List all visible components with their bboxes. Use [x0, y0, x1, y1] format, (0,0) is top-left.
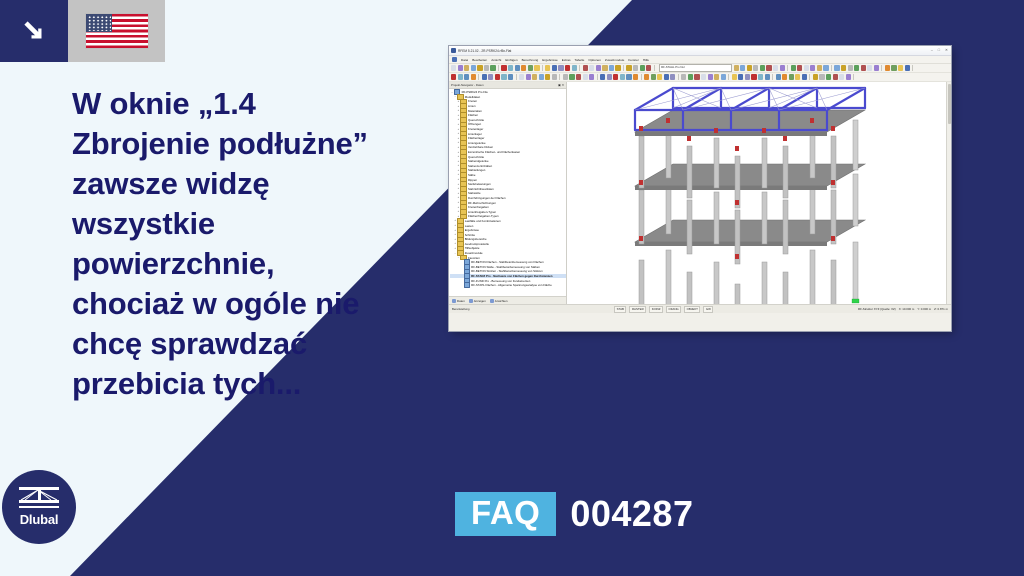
toolbar-separator — [654, 65, 655, 71]
toolbar-separator — [772, 74, 773, 80]
toolbar-icon[interactable] — [613, 74, 618, 79]
toolbar-icon[interactable] — [721, 74, 726, 79]
tree-item-label: Liniengelenke — [468, 141, 486, 145]
menu-item[interactable]: Zusatzmodule — [605, 58, 624, 62]
toolbar-icon[interactable] — [508, 65, 513, 70]
tree-item-label: Bildungsbereiche — [465, 237, 487, 241]
toolbar-separator — [559, 74, 560, 80]
toolbar-icon[interactable] — [602, 65, 607, 70]
tree-item-label: Stabexzentrizitäten — [468, 164, 492, 168]
toolbar-icon[interactable] — [539, 74, 544, 79]
tree-item-label: RF-BETON Stützen - Stahlbetonbemessung v… — [471, 269, 543, 273]
tree-item-label: Schnitte — [465, 233, 475, 237]
tree-item-label: RF-PSRK24 Pro File — [462, 90, 488, 94]
toolbar-separator — [579, 65, 580, 71]
toolbar-icon[interactable] — [776, 74, 781, 79]
status-message: Bereitstellung — [452, 307, 470, 311]
toolbar-secondary[interactable] — [449, 73, 951, 82]
toolbar-icon[interactable] — [694, 74, 699, 79]
tree-item-label: Exzentrische Flächen- und Flächenlasten — [468, 150, 520, 154]
maximize-icon[interactable]: □ — [938, 49, 940, 53]
toolbar-separator — [478, 74, 479, 80]
window-title: RFEM 5.21.02 - 2R-PSRK24.rf5x-Flat — [458, 49, 931, 53]
language-flag-badge — [68, 0, 165, 62]
rfem-application-window: RFEM 5.21.02 - 2R-PSRK24.rf5x-Flat – □ ✕… — [448, 45, 952, 332]
tree-item-label: Lasten — [465, 224, 474, 228]
toolbar-icon[interactable] — [521, 65, 526, 70]
faq-tag: FAQ — [455, 492, 556, 536]
toolbar-icon[interactable] — [490, 65, 495, 70]
toolbar-icon[interactable] — [589, 74, 594, 79]
toolbar-icon[interactable] — [795, 74, 800, 79]
status-cell[interactable]: OBJEKT — [684, 306, 700, 313]
tree-item-label: Knotenlager — [468, 127, 483, 131]
toolbar-icon[interactable] — [874, 65, 879, 70]
tree-item-label: Öffnungen — [468, 122, 481, 126]
toolbar-icon[interactable] — [701, 74, 706, 79]
tree-item-label: RF-STAHL Flächen - Allgemeine Spannungsa… — [471, 283, 552, 287]
toolbar-icon[interactable] — [545, 65, 550, 70]
toolbar-icon[interactable] — [563, 74, 568, 79]
status-cell[interactable]: RASTER — [629, 306, 646, 313]
toolbar-icon[interactable] — [813, 74, 818, 79]
toolbar-icon[interactable] — [583, 74, 588, 79]
toolbar-icon[interactable] — [898, 65, 903, 70]
toolbar-icon[interactable] — [471, 65, 476, 70]
flag-stars — [87, 15, 111, 31]
toolbar-icon[interactable] — [823, 65, 828, 70]
toolbar-separator — [831, 65, 832, 71]
toolbar-icon[interactable] — [626, 74, 631, 79]
toolbar-icon[interactable] — [802, 74, 807, 79]
toolbar-icon[interactable] — [651, 74, 656, 79]
tree-item-label: Stabteilungen — [468, 168, 485, 172]
toolbar-icon[interactable] — [583, 65, 588, 70]
app-icon — [451, 48, 456, 53]
close-icon[interactable]: ✕ — [945, 49, 948, 53]
navigator-tabs[interactable]: Daten Anzeigen Ansichten — [449, 296, 566, 304]
us-flag-icon — [86, 14, 148, 48]
toolbar-separator — [881, 65, 882, 71]
toolbar-icon[interactable] — [797, 65, 802, 70]
menu-app-icon — [452, 57, 457, 62]
status-toggle-cells[interactable]: STAB RASTER KOINZ OFANG OBJEKT GW — [614, 306, 713, 313]
toolbar-icon[interactable] — [670, 74, 675, 79]
toolbar-icon[interactable] — [789, 74, 794, 79]
status-coord-z: Z: 0.871 m — [934, 307, 948, 311]
status-cell[interactable]: KOINZ — [649, 306, 663, 313]
toolbar-icon[interactable] — [458, 74, 463, 79]
toolbar-icon[interactable] — [867, 65, 872, 70]
status-bar: Bereitstellung STAB RASTER KOINZ OFANG O… — [449, 304, 951, 313]
toolbar-icon[interactable] — [833, 74, 838, 79]
tree-item-label: Querschnitte — [468, 155, 484, 159]
toolbar-icon[interactable] — [891, 65, 896, 70]
toolbar-icon[interactable] — [826, 74, 831, 79]
menu-item[interactable]: Ergebnisse — [542, 58, 557, 62]
toolbar-icon[interactable] — [714, 74, 719, 79]
toolbar-icon[interactable] — [834, 65, 839, 70]
tree-item-label: Rippen — [468, 178, 477, 182]
toolbar-icon[interactable] — [817, 65, 822, 70]
toolbar-icon[interactable] — [819, 74, 824, 79]
model-viewport[interactable] — [567, 82, 951, 304]
toolbar-icon[interactable] — [846, 74, 851, 79]
tree-item-label: Linien — [468, 104, 476, 108]
toolbar-icon[interactable] — [528, 65, 533, 70]
toolbar-separator — [728, 74, 729, 80]
toolbar-icon[interactable] — [745, 74, 750, 79]
navigator-title: Projekt-Navigator - Daten — [451, 83, 484, 87]
menu-bar[interactable]: Datei Bearbeiten Ansicht Einfügen Berech… — [449, 56, 951, 64]
toolbar-icon[interactable] — [633, 74, 638, 79]
toolbar-icon[interactable] — [765, 74, 770, 79]
menu-item[interactable]: Fenster — [628, 58, 639, 62]
toolbar-icon[interactable] — [747, 65, 752, 70]
toolbar-icon[interactable] — [646, 65, 651, 70]
toolbar-icon[interactable] — [458, 65, 463, 70]
toolbar-separator — [809, 74, 810, 80]
page-title: W oknie „1.4 Zbrojenie podłużne” zawsze … — [72, 84, 422, 404]
window-body: Projekt-Navigator - Daten ▣ ✕ −RF-PSRK24… — [449, 82, 951, 304]
toolbar-icon[interactable] — [804, 65, 809, 70]
module-icon — [464, 282, 470, 288]
menu-item[interactable]: Ansicht — [491, 58, 501, 62]
scrollbar-thumb[interactable] — [948, 84, 951, 124]
loadcase-combo[interactable]: RF-STAHL Pro Nul — [659, 64, 732, 72]
menu-item[interactable]: Datei — [461, 58, 468, 62]
tree-item-label: Flächen — [468, 113, 478, 117]
toolbar-separator — [787, 65, 788, 71]
tree-item-label: Flächenfreigaben-Typen — [468, 214, 499, 218]
toolbar-separator — [498, 65, 499, 71]
toolbar-icon[interactable] — [609, 65, 614, 70]
status-coordinates: RF-Struktur XYZ (Quelle: XZ) X: 10.000 m… — [858, 307, 948, 311]
toolbar-icon[interactable] — [708, 74, 713, 79]
toolbar-icon[interactable] — [572, 65, 577, 70]
toolbar-icon[interactable] — [482, 74, 487, 79]
navigator-header-buttons[interactable]: ▣ ✕ — [558, 83, 564, 87]
tree-item-label: Lastfälle und Kombinationen — [465, 219, 501, 223]
tree-item-label: Linienfreigaben-Typen — [468, 210, 496, 214]
toolbar-icon[interactable] — [644, 74, 649, 79]
tree-item[interactable]: RF-STAHL Flächen - Allgemeine Spannungsa… — [450, 283, 566, 288]
toolbar-icon[interactable] — [640, 65, 645, 70]
tree-item-label: Hilfsobjekte — [465, 246, 480, 250]
toolbar-icon[interactable] — [751, 74, 756, 79]
tree-item-label: Steifebelastungen — [468, 182, 491, 186]
toolbar-icon[interactable] — [552, 65, 557, 70]
toolbar-icon[interactable] — [552, 74, 557, 79]
toolbar-icon[interactable] — [488, 74, 493, 79]
project-navigator: Projekt-Navigator - Daten ▣ ✕ −RF-PSRK24… — [449, 82, 567, 304]
toolbar-icon[interactable] — [633, 65, 638, 70]
logo-text: Dlubal — [20, 512, 59, 527]
tree-item-label: Linienlager — [468, 132, 482, 136]
toolbar-icon[interactable] — [766, 65, 771, 70]
toolbar-icon[interactable] — [484, 65, 489, 70]
status-render-mode: RF-Struktur XYZ (Quelle: XZ) — [858, 307, 896, 311]
toolbar-icon[interactable] — [477, 65, 482, 70]
viewport-scrollbar[interactable] — [946, 82, 951, 304]
toolbar-icon[interactable] — [607, 74, 612, 79]
toolbar-icon[interactable] — [854, 65, 859, 70]
toolbar-icon[interactable] — [526, 74, 531, 79]
tree-item-label: Modelldaten — [465, 95, 481, 99]
menu-item[interactable]: Bearbeiten — [472, 58, 487, 62]
truss-bridge-icon — [19, 487, 59, 509]
status-cell[interactable]: GW — [703, 306, 713, 313]
toolbar-icon[interactable] — [848, 65, 853, 70]
flag-canton — [86, 14, 112, 32]
menu-item[interactable]: Berechnung — [522, 58, 539, 62]
toolbar-icon[interactable] — [565, 65, 570, 70]
status-cell[interactable]: STAB — [614, 306, 626, 313]
toolbar-icon[interactable] — [688, 74, 693, 79]
toolbar-icon[interactable] — [773, 65, 778, 70]
toolbar-icon[interactable] — [515, 65, 520, 70]
tree-item-label: Knoten — [468, 99, 477, 103]
toolbar-icon[interactable] — [596, 65, 601, 70]
status-cell[interactable]: OFANG — [666, 306, 681, 313]
toolbar-icon[interactable] — [861, 65, 866, 70]
faq-badge-row: FAQ 004287 — [455, 492, 693, 536]
toolbar-separator — [912, 65, 913, 71]
window-titlebar: RFEM 5.21.02 - 2R-PSRK24.rf5x-Flat – □ ✕ — [449, 46, 951, 56]
tree-item-label: Zusatzmodule — [465, 251, 483, 255]
toolbar-icon[interactable] — [841, 65, 846, 70]
tree-item-label: RF-BETON Flächen - Stahlbetonbemessung v… — [471, 260, 544, 264]
slide-canvas: W oknie „1.4 Zbrojenie podłużne” zawsze … — [0, 0, 1024, 576]
toolbar-icon[interactable] — [905, 65, 910, 70]
tree-item-label: Materialien — [468, 109, 482, 113]
navigator-tab-daten[interactable]: Daten — [452, 299, 465, 303]
toolbar-icon[interactable] — [464, 74, 469, 79]
toolbar-icon[interactable] — [620, 74, 625, 79]
toolbar-icon[interactable] — [681, 74, 686, 79]
tree-item-label: Stabnichtlinearitäten — [468, 187, 494, 191]
toolbar-icon[interactable] — [626, 65, 631, 70]
toolbar-icon[interactable] — [615, 65, 620, 70]
toolbar-icon[interactable] — [545, 74, 550, 79]
toolbar-icon[interactable] — [501, 74, 506, 79]
toolbar-separator — [678, 74, 679, 80]
toolbar-icon[interactable] — [664, 74, 669, 79]
toolbar-separator — [853, 74, 854, 80]
arrow-down-right-icon — [19, 16, 49, 46]
toolbar-icon[interactable] — [532, 74, 537, 79]
tree-item-label: RF-FUND Pro - Bemessung von Fundamenten — [471, 279, 530, 283]
toolbar-icon[interactable] — [740, 65, 745, 70]
toolbar-icon[interactable] — [760, 65, 765, 70]
toolbar-separator — [597, 74, 598, 80]
tree-item-label: Flächenlager — [468, 136, 484, 140]
tree-item-label: Ausdruckprotokolle — [465, 242, 489, 246]
toolbar-icon[interactable] — [791, 65, 796, 70]
navigator-tab-ansichten[interactable]: Ansichten — [490, 299, 508, 303]
menu-item[interactable]: Hilfe — [643, 58, 649, 62]
toolbar-icon[interactable] — [600, 74, 605, 79]
toolbar-icon[interactable] — [780, 65, 785, 70]
menu-item[interactable]: Extras — [562, 58, 571, 62]
toolbar-icon[interactable] — [534, 65, 539, 70]
toolbar-icon[interactable] — [839, 74, 844, 79]
toolbar-icon[interactable] — [508, 74, 513, 79]
faq-number: 004287 — [570, 496, 693, 532]
navigator-tree[interactable]: −RF-PSRK24 Pro File−Modelldaten+Knoten+L… — [449, 89, 566, 296]
toolbar-primary[interactable]: RF-STAHL Pro Nul — [449, 64, 951, 73]
structural-model-3d — [567, 82, 951, 304]
toolbar-icon[interactable] — [501, 65, 506, 70]
toolbar-icon[interactable] — [734, 65, 739, 70]
status-coord-y: Y: 0.000 m — [917, 307, 931, 311]
toolbar-separator — [623, 65, 624, 71]
toolbar-icon[interactable] — [657, 74, 662, 79]
menu-item[interactable]: Einfügen — [505, 58, 517, 62]
dlubal-logo: Dlubal — [2, 470, 76, 544]
toolbar-icon[interactable] — [471, 74, 476, 79]
toolbar-icon[interactable] — [569, 74, 574, 79]
toolbar-icon[interactable] — [810, 65, 815, 70]
minimize-icon[interactable]: – — [931, 49, 933, 53]
toolbar-icon[interactable] — [451, 65, 456, 70]
tree-item-label: Ergebnisse — [465, 228, 479, 232]
toolbar-icon[interactable] — [558, 65, 563, 70]
tree-item-label: Stabendgelenke — [468, 159, 489, 163]
tree-item-label: Stabsätze — [468, 191, 481, 195]
navigator-header: Projekt-Navigator - Daten ▣ ✕ — [449, 82, 566, 89]
tree-item-label: RF-Mehrschichtungen — [468, 201, 496, 205]
tree-item-label: Stäbe — [468, 173, 475, 177]
tree-item-label: Querschnitte — [468, 118, 484, 122]
tree-item-label: Durchdringungen der Flächen — [468, 196, 506, 200]
toolbar-icon[interactable] — [782, 74, 787, 79]
menu-item[interactable]: Optionen — [588, 58, 601, 62]
status-coord-x: X: 10.000 m — [899, 307, 915, 311]
toolbar-icon[interactable] — [519, 74, 524, 79]
toolbar-icon[interactable] — [495, 74, 500, 79]
toolbar-icon[interactable] — [451, 74, 456, 79]
tree-item-label: Verdrehbare Dicken — [468, 145, 493, 149]
arrow-badge — [0, 0, 68, 62]
window-controls[interactable]: – □ ✕ — [931, 49, 949, 53]
toolbar-icon[interactable] — [738, 74, 743, 79]
toolbar-icon[interactable] — [885, 65, 890, 70]
toolbar-icon[interactable] — [589, 65, 594, 70]
tree-item-label: Knotenfreigaben — [468, 205, 489, 209]
navigator-tab-anzeigen[interactable]: Anzeigen — [469, 299, 486, 303]
toolbar-icon[interactable] — [464, 65, 469, 70]
toolbar-icon[interactable] — [753, 65, 758, 70]
tree-item-label: RF-STANZ Pro - Nachweis von Flächen gege… — [471, 274, 552, 278]
toolbar-icon[interactable] — [732, 74, 737, 79]
toolbar-icon[interactable] — [758, 74, 763, 79]
toolbar-separator — [516, 74, 517, 80]
toolbar-icon[interactable] — [576, 74, 581, 79]
menu-item[interactable]: Tabelle — [575, 58, 585, 62]
tree-item-label: RF-BETON Stäbe - Stahlbetonbemessung von… — [471, 265, 540, 269]
toolbar-separator — [641, 74, 642, 80]
toolbar-separator — [542, 65, 543, 71]
